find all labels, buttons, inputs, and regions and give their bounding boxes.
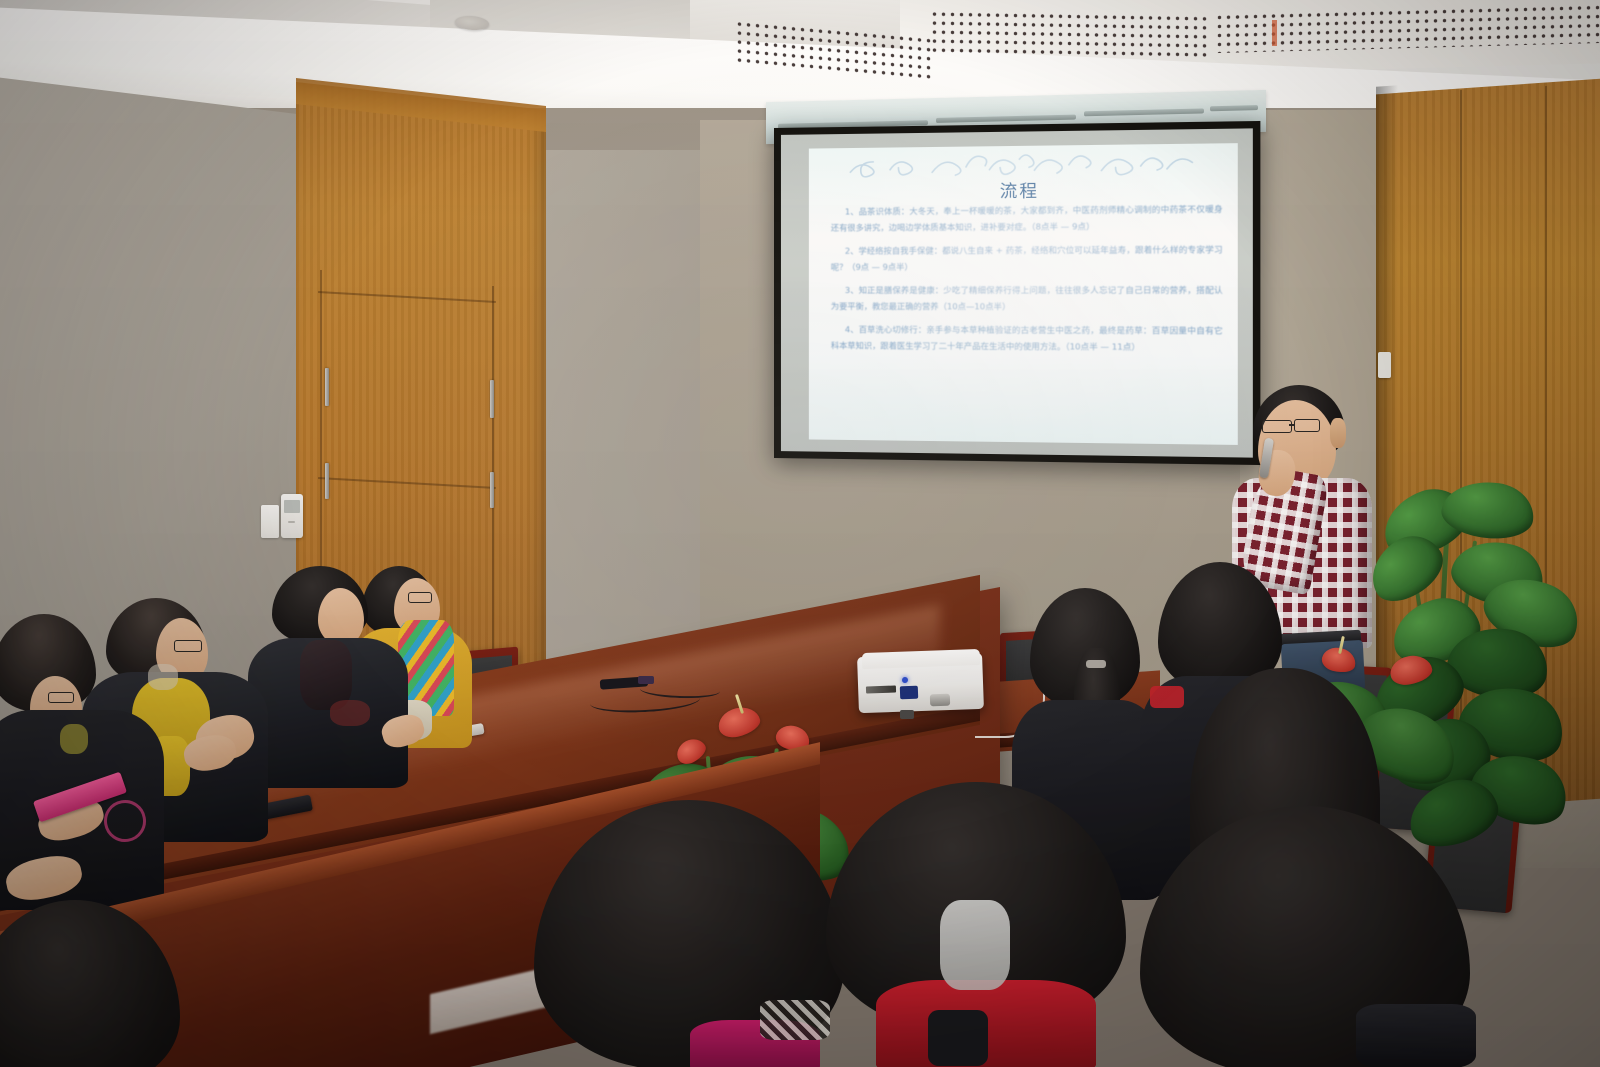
- dark-bag: [928, 1010, 988, 1066]
- coat-detail: [60, 724, 88, 754]
- slide-bullet: 4、百草洗心切修行：亲手参与本草种植验证的古老营生中医之药，最终是药草：百草因量…: [831, 322, 1223, 356]
- coat-detail: [330, 700, 370, 726]
- attendee-detail: [148, 664, 178, 690]
- red-item: [1150, 686, 1184, 708]
- thermostat-button[interactable]: [288, 521, 295, 523]
- door-handle-icon[interactable]: [325, 368, 329, 406]
- wall-sensor-icon: [1378, 352, 1391, 378]
- projection-screen: 流程 1、品茶识体质：大冬天，奉上一杯暖暖的茶，大家都到齐，中医药剂师精心调制的…: [774, 121, 1260, 465]
- presentation-slide: 流程 1、品茶识体质：大冬天，奉上一杯暖暖的茶，大家都到齐，中医药剂师精心调制的…: [809, 143, 1238, 445]
- presenter-glasses-right: [1294, 419, 1320, 432]
- presenter-ear: [1330, 418, 1346, 448]
- screen-surface: 流程 1、品茶识体质：大冬天，奉上一杯暖暖的茶，大家都到齐，中医药剂师精心调制的…: [781, 128, 1253, 457]
- slide-ornament-icon: [809, 147, 1238, 178]
- table-equipment: [638, 676, 654, 684]
- glasses-bridge: [1289, 424, 1295, 426]
- hair-tie: [1086, 660, 1106, 668]
- door-handle-icon[interactable]: [325, 463, 329, 499]
- slide-body: 1、品茶识体质：大冬天，奉上一杯暖暖的茶，大家都到齐，中医药剂师精心调制的中药茶…: [831, 202, 1223, 364]
- white-garment: [940, 900, 1010, 990]
- photo-scene: 流程 1、品茶识体质：大冬天，奉上一杯暖暖的茶，大家都到齐，中医药剂师精心调制的…: [0, 0, 1600, 1067]
- presenter-glasses-left: [1262, 420, 1292, 433]
- dark-coat: [1356, 1004, 1476, 1067]
- slide-bullet: 1、品茶识体质：大冬天，奉上一杯暖暖的茶，大家都到齐，中医药剂师精心调制的中药茶…: [831, 202, 1223, 237]
- door-handle-icon[interactable]: [490, 380, 494, 418]
- projector-control-panel[interactable]: [900, 686, 918, 700]
- slide-bullet: 2、学经络按自我手保健：都说八生自来 + 药茶，经络和穴位可以延年益寿，跟着什么…: [831, 242, 1223, 276]
- ceiling-vent-grille-icon: [930, 10, 1210, 59]
- slide-bullet: 3、知正是膳保养是健康：少吃了精细保养行得上问题，往往很多人忘记了自己日常的营养…: [831, 283, 1223, 316]
- light-switch-plate[interactable]: [261, 505, 279, 538]
- projector-ports: [866, 685, 896, 693]
- slide-title: 流程: [809, 174, 1238, 203]
- patterned-collar: [760, 1000, 830, 1040]
- ceiling-vent-indicator: [1272, 20, 1277, 46]
- door-handle-icon[interactable]: [490, 472, 494, 508]
- thermostat-display: [284, 500, 300, 513]
- projector-lens-icon: [930, 694, 950, 707]
